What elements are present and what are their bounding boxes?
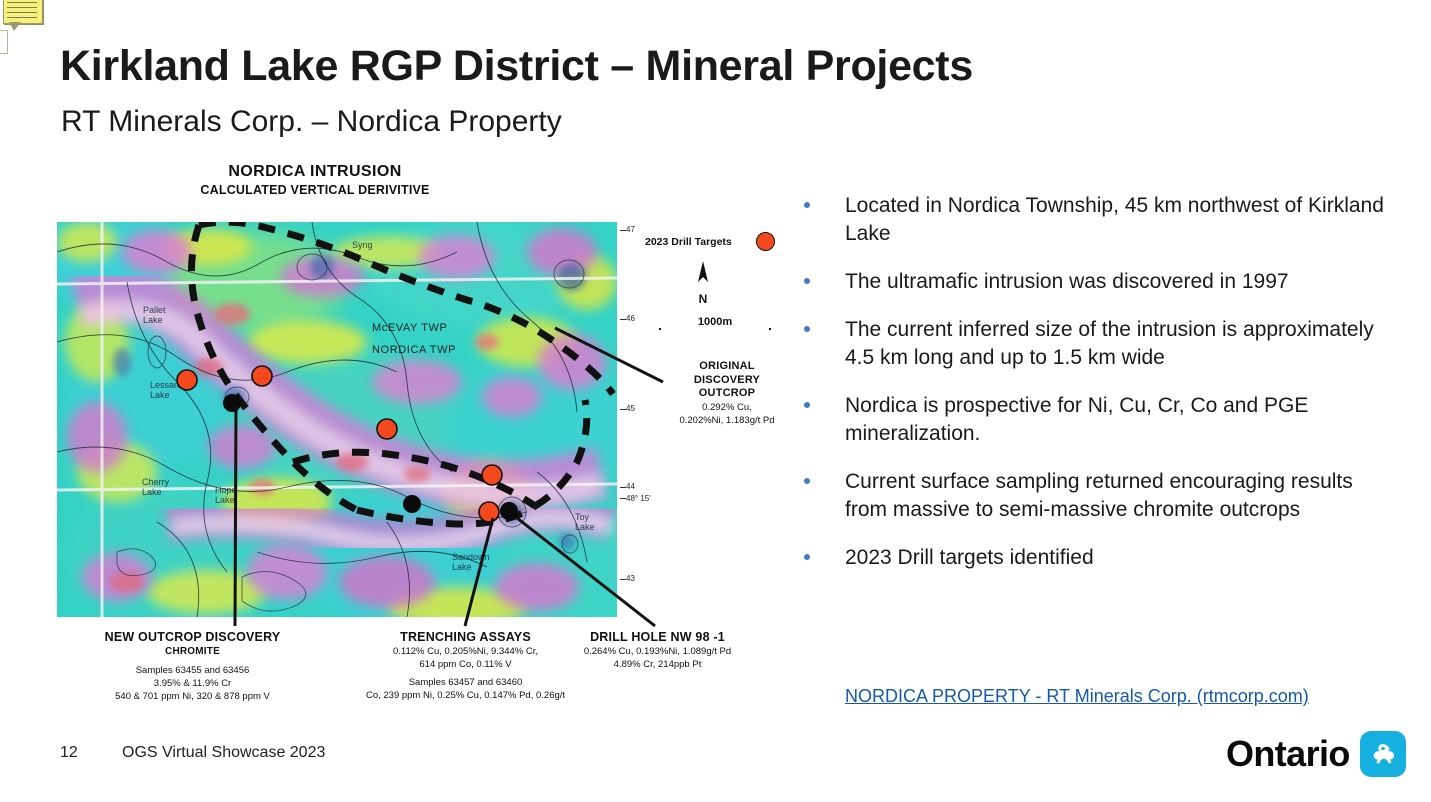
footer-text: OGS Virtual Showcase 2023	[122, 744, 325, 762]
anno-dh-detail1: 0.264% Cu, 0.193%Ni, 1.089g/t Pd	[540, 645, 775, 658]
map-subtitle: CALCULATED VERTICAL DERIVITIVE	[55, 183, 575, 197]
list-item: Located in Nordica Township, 45 km north…	[800, 192, 1400, 248]
tick-label: 47	[626, 225, 635, 234]
ontario-logo: Ontario	[1226, 731, 1406, 777]
page-title: Kirkland Lake RGP District – Mineral Pro…	[60, 42, 973, 91]
nordica-property-link[interactable]: NORDICA PROPERTY - RT Minerals Corp. (rt…	[845, 686, 1309, 707]
north-arrow-glyph	[695, 260, 711, 286]
list-item: Nordica is prospective for Ni, Cu, Cr, C…	[800, 392, 1400, 448]
annotation-original-discovery: ORIGINAL DISCOVERY OUTCROP 0.292% Cu, 0.…	[667, 360, 787, 427]
bullet-list: Located in Nordica Township, 45 km north…	[800, 192, 1400, 592]
map-legend: 2023 Drill Targets N 1000m	[645, 222, 775, 332]
drill-target-marker	[252, 366, 272, 386]
legend-drill-targets: 2023 Drill Targets	[645, 232, 775, 251]
tick-label: 46	[626, 314, 635, 323]
tick-label: 44	[626, 482, 635, 491]
sample-dot	[403, 495, 421, 513]
drill-target-swatch	[756, 232, 775, 251]
bullet-text: The ultramafic intrusion was discovered …	[845, 270, 1289, 293]
tick-label: 43	[626, 574, 635, 583]
trillium-glyph	[1368, 739, 1398, 769]
bullet-dot-icon	[804, 478, 810, 484]
map-title: NORDICA INTRUSION	[55, 163, 575, 181]
list-item: The ultramafic intrusion was discovered …	[800, 268, 1400, 296]
bullet-dot-icon	[804, 402, 810, 408]
north-arrow-icon: N	[689, 260, 717, 304]
bullet-text: 2023 Drill targets identified	[845, 546, 1094, 569]
page-subtitle: RT Minerals Corp. – Nordica Property	[61, 105, 562, 139]
list-item: 2023 Drill targets identified	[800, 544, 1400, 572]
edge-artifact	[0, 30, 8, 54]
drill-target-marker	[482, 465, 502, 485]
annotation-drill-hole: DRILL HOLE NW 98 -1 0.264% Cu, 0.193%Ni,…	[540, 630, 775, 671]
anno-tr-detail4: Co, 239 ppm Ni, 0.25% Cu, 0.147% Pd, 0.2…	[333, 689, 598, 702]
bullet-dot-icon	[804, 554, 810, 560]
bullet-text: Located in Nordica Township, 45 km north…	[845, 194, 1384, 245]
bullet-dot-icon	[804, 326, 810, 332]
slide-canvas: Kirkland Lake RGP District – Mineral Pro…	[0, 0, 1431, 802]
north-label: N	[689, 292, 717, 306]
anno-new-detail2: 3.95% & 11.9% Cr	[60, 677, 325, 690]
page-number: 12	[60, 744, 78, 762]
anno-dh-header: DRILL HOLE NW 98 -1	[540, 630, 775, 645]
list-item: Current surface sampling returned encour…	[800, 468, 1400, 524]
bullet-text: The current inferred size of the intrusi…	[845, 318, 1374, 369]
anno-tr-detail3: Samples 63457 and 63460	[333, 676, 598, 689]
anno-new-detail1: Samples 63455 and 63456	[60, 664, 325, 677]
comment-bubble-icon	[3, 0, 43, 30]
sample-dot	[500, 502, 518, 520]
scale-bar: 1000m	[655, 314, 775, 334]
anno-odo-detail2: 0.202%Ni, 1.183g/t Pd	[667, 415, 787, 427]
nordica-figure: NORDICA INTRUSION CALCULATED VERTICAL DE…	[55, 160, 775, 720]
anno-new-header: NEW OUTCROP DISCOVERY	[60, 630, 325, 645]
legend-label: 2023 Drill Targets	[645, 236, 732, 248]
ontario-wordmark: Ontario	[1226, 733, 1350, 775]
intrusion-outline-and-targets	[57, 222, 617, 617]
anno-dh-detail2: 4.89% Cr, 214ppb Pt	[540, 658, 775, 671]
bullet-dot-icon	[804, 202, 810, 208]
bullet-text: Current surface sampling returned encour…	[845, 470, 1353, 521]
anno-odo-line2: DISCOVERY	[667, 374, 787, 388]
drill-target-marker	[177, 370, 197, 390]
bullet-text: Nordica is prospective for Ni, Cu, Cr, C…	[845, 394, 1308, 445]
tick-label: 45	[626, 404, 635, 413]
anno-new-subheader: CHROMITE	[60, 645, 325, 659]
drill-target-marker	[479, 502, 499, 522]
drill-target-marker	[377, 419, 397, 439]
anno-odo-detail1: 0.292% Cu,	[667, 402, 787, 414]
anno-odo-line1: ORIGINAL	[667, 360, 787, 374]
anno-odo-line3: OUTCROP	[667, 387, 787, 401]
trillium-icon	[1360, 731, 1406, 777]
bullet-dot-icon	[804, 278, 810, 284]
geophysical-map-image: PalletLake McEVAY TWP NORDICA TWP Lessar…	[57, 222, 617, 617]
annotation-new-outcrop: NEW OUTCROP DISCOVERY CHROMITE Samples 6…	[60, 630, 325, 703]
anno-new-detail3: 540 & 701 ppm Ni, 320 & 878 ppm V	[60, 690, 325, 703]
sample-dot	[223, 394, 241, 412]
scale-label: 1000m	[655, 316, 775, 328]
latitude-label: 48° 15'	[626, 494, 651, 503]
list-item: The current inferred size of the intrusi…	[800, 316, 1400, 372]
